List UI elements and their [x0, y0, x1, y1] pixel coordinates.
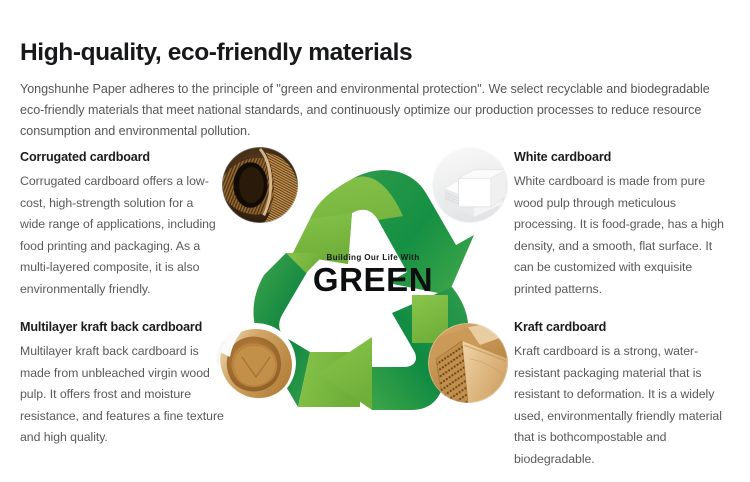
material-body-multilayer: Multilayer kraft back cardboard is made …: [20, 341, 226, 449]
material-body-white: White cardboard is made from pure wood p…: [514, 171, 726, 300]
material-body-kraft: Kraft cardboard is a strong, water-resis…: [514, 341, 738, 470]
photo-white-cardboard: [432, 147, 508, 223]
material-block-corrugated: Corrugated cardboard Corrugated cardboar…: [20, 150, 220, 300]
photo-kraft-cardboard: [428, 323, 508, 403]
material-title-white: White cardboard: [514, 150, 726, 164]
material-title-multilayer: Multilayer kraft back cardboard: [20, 320, 226, 334]
material-block-white: White cardboard White cardboard is made …: [514, 150, 726, 300]
intro-paragraph: Yongshunhe Paper adheres to the principl…: [20, 79, 730, 142]
material-title-corrugated: Corrugated cardboard: [20, 150, 220, 164]
material-block-multilayer: Multilayer kraft back cardboard Multilay…: [20, 320, 226, 449]
material-title-kraft: Kraft cardboard: [514, 320, 738, 334]
infographic-page: High-quality, eco-friendly materials Yon…: [0, 0, 750, 482]
material-block-kraft: Kraft cardboard Kraft cardboard is a str…: [514, 320, 738, 470]
page-title: High-quality, eco-friendly materials: [20, 40, 720, 67]
material-body-corrugated: Corrugated cardboard offers a low-cost, …: [20, 171, 220, 300]
photo-multilayer-kraft-tube: [216, 323, 296, 403]
photo-corrugated-cardboard: [222, 147, 298, 223]
center-recycling-graphic: Building Our Life With GREEN: [200, 143, 540, 447]
